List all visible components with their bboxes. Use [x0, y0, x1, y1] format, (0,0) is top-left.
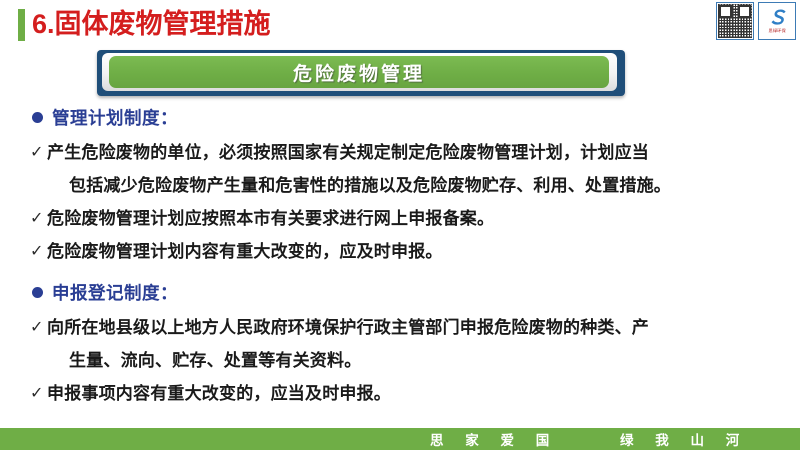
section-heading-row: 申报登记制度：: [32, 279, 800, 309]
slide-header: 6.固体废物管理措施 Ｓ 思绿环保: [0, 0, 800, 48]
slide-canvas: 6.固体废物管理措施 Ｓ 思绿环保 危险废物管理 管理计划制度：: [0, 0, 800, 450]
content-section-declaration: 申报登记制度： ✓ 向所在地县级以上地方人民政府环境保护行政主管部门申报危险废物…: [0, 279, 800, 410]
check-icon: ✓: [30, 377, 47, 410]
banner-green-plate: 危险废物管理: [109, 56, 609, 88]
content-section-management-plan: 管理计划制度： ✓ 产生危险废物的单位，必须按照国家有关规定制定危险废物管理计划…: [0, 104, 800, 268]
section-banner: 危险废物管理: [97, 50, 625, 96]
qr-code-icon[interactable]: [716, 2, 754, 40]
section-heading: 管理计划制度：: [52, 104, 178, 132]
check-icon: ✓: [30, 311, 47, 344]
slide-footer: 思 家 爱 国 绿 我 山 河: [0, 428, 800, 450]
logo-caption: 思绿环保: [768, 28, 785, 34]
company-logo[interactable]: Ｓ 思绿环保: [758, 2, 796, 40]
qr-code-pattern: [718, 4, 752, 38]
bullet-icon: [32, 112, 43, 123]
list-item-line: 产生危险废物的单位，必须按照国家有关规定制定危险废物管理计划，计划应当: [47, 143, 649, 162]
bullet-icon: [32, 287, 43, 298]
section-heading-row: 管理计划制度：: [32, 104, 800, 134]
brand-block: Ｓ 思绿环保: [716, 2, 796, 40]
page-title: 6.固体废物管理措施: [32, 4, 271, 44]
list-item: ✓ 危险废物管理计划内容有重大改变的，应及时申报。: [30, 235, 782, 268]
footer-slogan-right: 绿 我 山 河: [620, 429, 748, 449]
check-icon: ✓: [30, 235, 47, 268]
check-icon: ✓: [30, 202, 47, 235]
check-icon: ✓: [30, 136, 47, 169]
list-item-text: 危险废物管理计划应按照本市有关要求进行网上申报备案。: [47, 202, 494, 235]
slide-content: 管理计划制度： ✓ 产生危险废物的单位，必须按照国家有关规定制定危险废物管理计划…: [0, 104, 800, 424]
list-item-text: 危险废物管理计划内容有重大改变的，应及时申报。: [47, 235, 443, 268]
list-item: ✓ 向所在地县级以上地方人民政府环境保护行政主管部门申报危险废物的种类、产 生量…: [30, 311, 782, 377]
section-gap: [0, 268, 800, 279]
title-accent-bar: [18, 9, 25, 41]
banner-title: 危险废物管理: [293, 59, 425, 86]
logo-mark-icon: Ｓ: [767, 9, 786, 28]
section-heading: 申报登记制度：: [52, 279, 178, 307]
list-item-text: 向所在地县级以上地方人民政府环境保护行政主管部门申报危险废物的种类、产 生量、流…: [47, 311, 649, 377]
list-item: ✓ 危险废物管理计划应按照本市有关要求进行网上申报备案。: [30, 202, 782, 235]
list-item: ✓ 产生危险废物的单位，必须按照国家有关规定制定危险废物管理计划，计划应当 包括…: [30, 136, 782, 202]
list-item: ✓ 申报事项内容有重大改变的，应当及时申报。: [30, 377, 782, 410]
list-item-line: 生量、流向、贮存、处置等有关资料。: [47, 344, 649, 377]
footer-slogan-left: 思 家 爱 国: [430, 429, 558, 449]
list-item-text: 产生危险废物的单位，必须按照国家有关规定制定危险废物管理计划，计划应当 包括减少…: [47, 136, 671, 202]
list-item-line: 包括减少危险废物产生量和危害性的措施以及危险废物贮存、利用、处置措施。: [47, 169, 671, 202]
list-item-line: 向所在地县级以上地方人民政府环境保护行政主管部门申报危险废物的种类、产: [47, 318, 649, 337]
list-item-text: 申报事项内容有重大改变的，应当及时申报。: [47, 377, 391, 410]
